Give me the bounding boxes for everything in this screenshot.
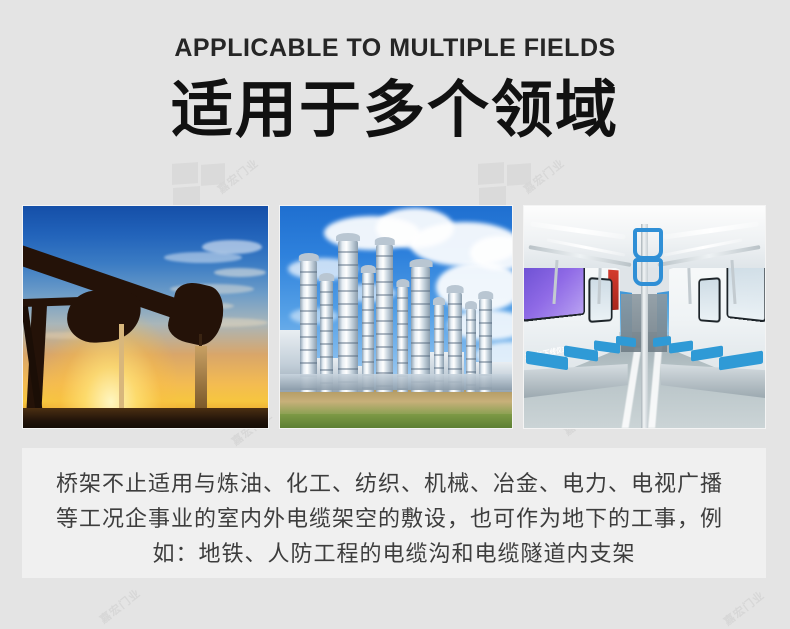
watermark-shape [172, 162, 198, 185]
grab-handle-icon [633, 258, 663, 286]
page-title-chinese: 适用于多个领域 [0, 72, 790, 150]
distillation-column [300, 260, 317, 392]
watermark-text: 嘉宏门业 [720, 587, 768, 629]
column-cap [478, 291, 494, 299]
oil-field-scene [23, 206, 268, 428]
watermark-shape [478, 162, 504, 185]
train-window [698, 277, 720, 323]
column-cap [361, 265, 375, 273]
watermark-logo-left [172, 163, 230, 209]
caption-line-1: 桥架不止适用与炼油、化工、纺织、机械、冶金、电力、电视广播 [56, 466, 732, 501]
column-cap [409, 259, 432, 267]
distillation-column [338, 240, 358, 392]
watermark-shape [201, 163, 225, 186]
image-gallery: 列车下线仪式 [22, 205, 766, 429]
watermark-text: 嘉宏门业 [214, 155, 262, 197]
caption-panel: 桥架不止适用与炼油、化工、纺织、机械、冶金、电力、电视广播 等工况企事业的室内外… [22, 448, 766, 578]
metro-interior-scene: 列车下线仪式 [524, 206, 765, 428]
gallery-image-chemical-plant [279, 205, 512, 429]
watermark-text: 嘉宏门业 [96, 585, 144, 627]
caption-line-3: 如：地铁、人防工程的电缆沟和电缆隧道内支架 [56, 536, 732, 571]
column-cap [375, 237, 395, 245]
column-cap [447, 285, 464, 293]
watermark-shape [507, 163, 531, 186]
pipe-rack [280, 374, 511, 390]
gallery-image-oil-field [22, 205, 269, 429]
chemical-plant-scene [280, 206, 511, 428]
cloud [164, 252, 242, 263]
column-cap [336, 233, 360, 241]
column-cap [433, 297, 445, 305]
plant-ground [280, 390, 511, 428]
gallery-image-metro-interior: 列车下线仪式 [523, 205, 766, 429]
watermark-text: 嘉宏门业 [520, 155, 568, 197]
cloud [214, 268, 266, 277]
column-cap [465, 301, 477, 309]
promo-page: APPLICABLE TO MULTIPLE FIELDS 适用于多个领域 嘉宏… [0, 0, 790, 617]
ground-horizon [23, 408, 268, 428]
grab-handle-icon [633, 228, 663, 260]
column-cap [396, 279, 409, 287]
distillation-column [376, 244, 393, 392]
column-cap [319, 273, 335, 281]
watermark-logo-right [478, 163, 536, 209]
column-cap [299, 253, 319, 261]
page-title-english: APPLICABLE TO MULTIPLE FIELDS [0, 34, 790, 63]
caption-line-2: 等工况企事业的室内外电缆架空的敷设，也可作为地下的工事，例 [56, 501, 732, 536]
